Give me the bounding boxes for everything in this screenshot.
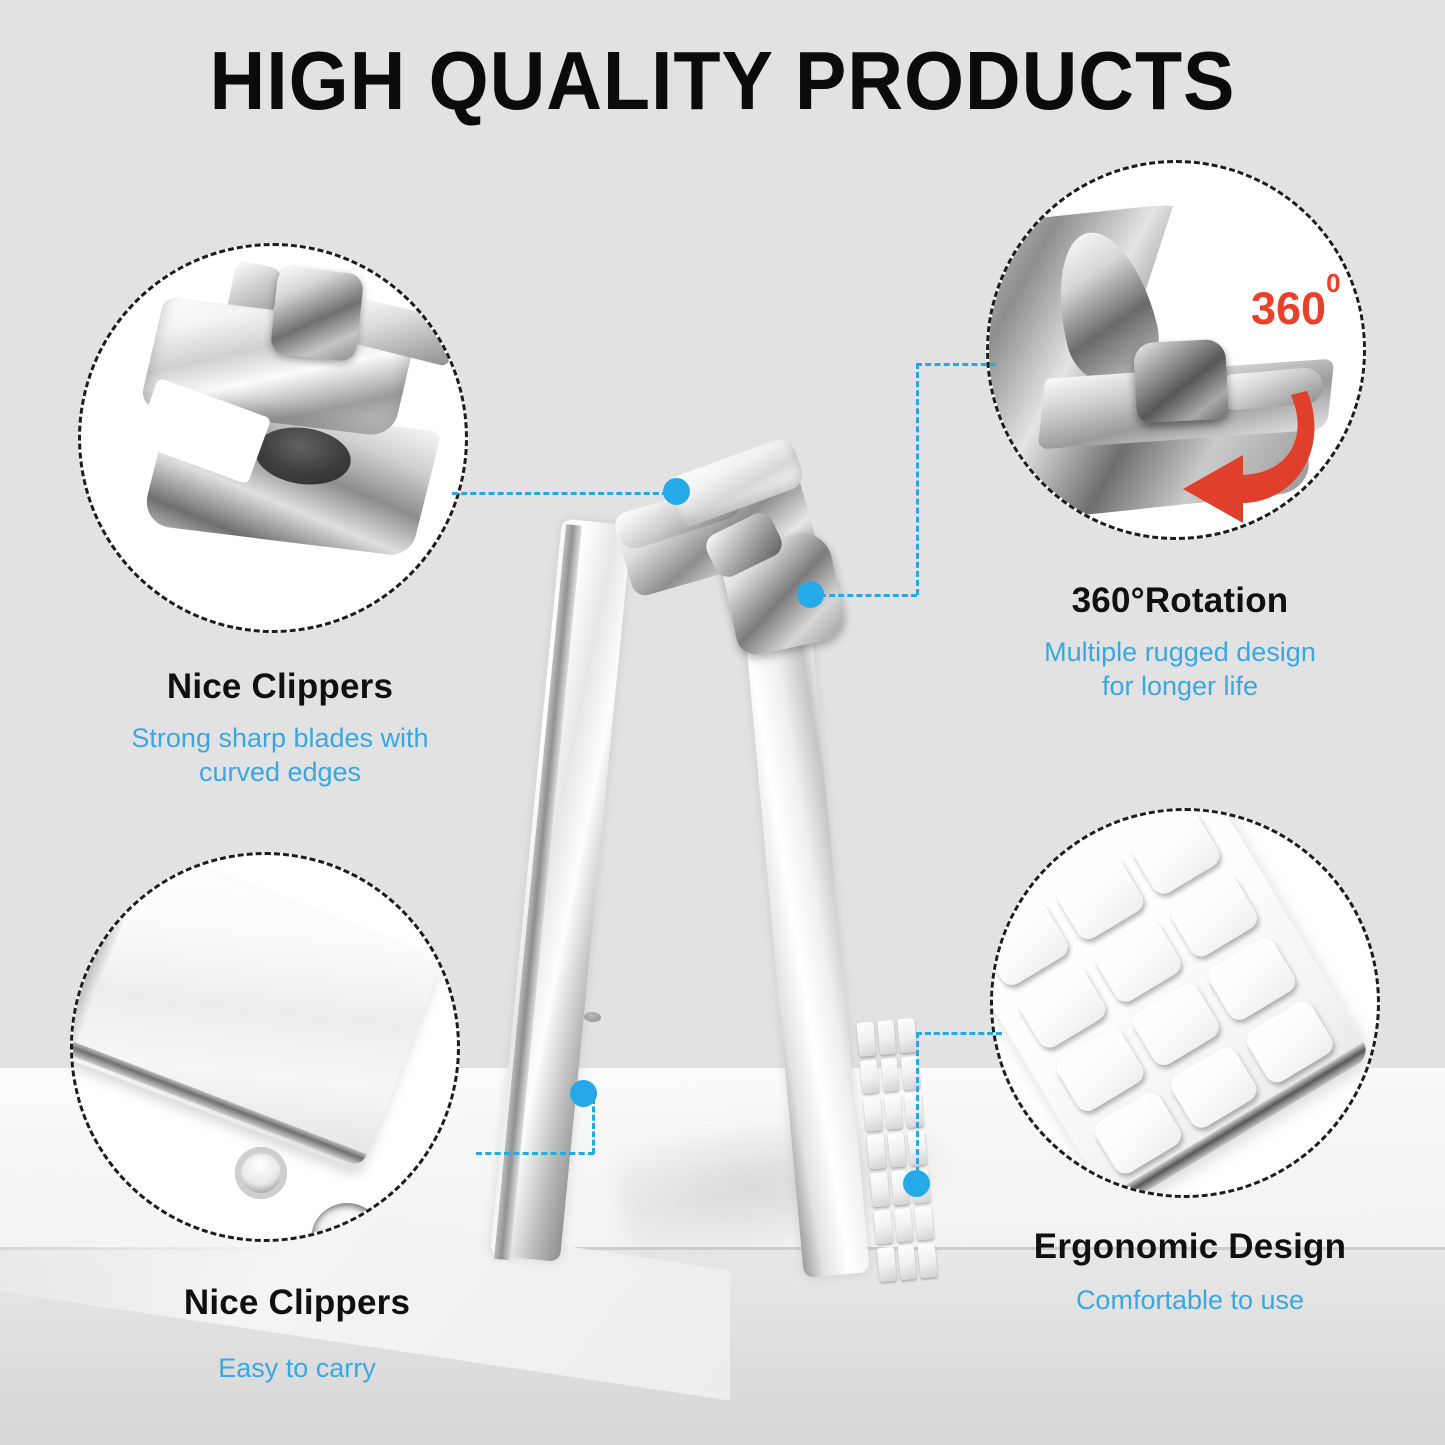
- callout-subtitle: Multiple rugged design for longer life: [960, 635, 1400, 704]
- callout-label-nice-clippers-blades: Nice Clippers Strong sharp blades with c…: [50, 668, 510, 790]
- infographic-page: HIGH QUALITY PRODUCTS 3600: [0, 0, 1445, 1445]
- callout-title: 360°Rotation: [960, 582, 1400, 621]
- callout-label-nice-clippers-carry: Nice Clippers Easy to carry: [62, 1284, 532, 1385]
- callout-title: Nice Clippers: [62, 1284, 532, 1323]
- callout-subtitle-line1: Easy to carry: [62, 1351, 532, 1386]
- callout-image-nice-clippers-carry: [70, 852, 460, 1242]
- callout-subtitle-line2: for longer life: [960, 669, 1400, 704]
- rotation-arrow-icon: [1139, 385, 1329, 525]
- callout-subtitle: Strong sharp blades with curved edges: [50, 721, 510, 790]
- callout-subtitle-line1: Comfortable to use: [960, 1283, 1420, 1318]
- callout-image-rotation: 3600: [986, 160, 1366, 540]
- connector-line-bottom-right-a: [916, 1032, 919, 1182]
- clipper-flat-plate: [70, 852, 442, 1172]
- callout-subtitle: Easy to carry: [62, 1351, 532, 1386]
- callout-subtitle-line1: Strong sharp blades with: [50, 721, 510, 756]
- clipper-right-arm: [738, 547, 870, 1278]
- clipper-arm-notch: [584, 1011, 602, 1023]
- callout-subtitle-line1: Multiple rugged design: [960, 635, 1400, 670]
- connector-line-bottom-left-a: [592, 1098, 595, 1154]
- connector-line-top-left: [452, 492, 668, 495]
- connector-line-bottom-right-b: [916, 1032, 1002, 1035]
- callout-image-ergonomic: [990, 808, 1380, 1198]
- hotspot-dot-top-left[interactable]: [663, 478, 690, 505]
- plate-small-hole: [227, 1139, 294, 1206]
- callout-label-ergonomic: Ergonomic Design Comfortable to use: [960, 1228, 1420, 1317]
- plate-large-hole: [300, 1192, 393, 1242]
- clipper-grip-texture: [856, 1018, 937, 1282]
- connector-line-top-right-b: [916, 363, 919, 595]
- callout-label-rotation: 360°Rotation Multiple rugged design for …: [960, 582, 1400, 704]
- clipper-pivot-post: [270, 266, 365, 363]
- connector-line-bottom-left-b: [476, 1152, 594, 1155]
- grip-pad-grid: [990, 808, 1337, 1178]
- callout-title: Nice Clippers: [50, 668, 510, 707]
- callout-subtitle: Comfortable to use: [960, 1283, 1420, 1318]
- callout-title: Ergonomic Design: [960, 1228, 1420, 1267]
- connector-line-top-right-a: [820, 594, 917, 597]
- connector-line-top-right-c: [916, 363, 996, 366]
- callout-image-nice-clippers-blades: [78, 243, 468, 633]
- product-image-nail-clipper: [470, 430, 940, 1310]
- page-title: HIGH QUALITY PRODUCTS: [51, 33, 1395, 129]
- callout-subtitle-line2: curved edges: [50, 755, 510, 790]
- rotation-badge: 3600: [1251, 283, 1341, 335]
